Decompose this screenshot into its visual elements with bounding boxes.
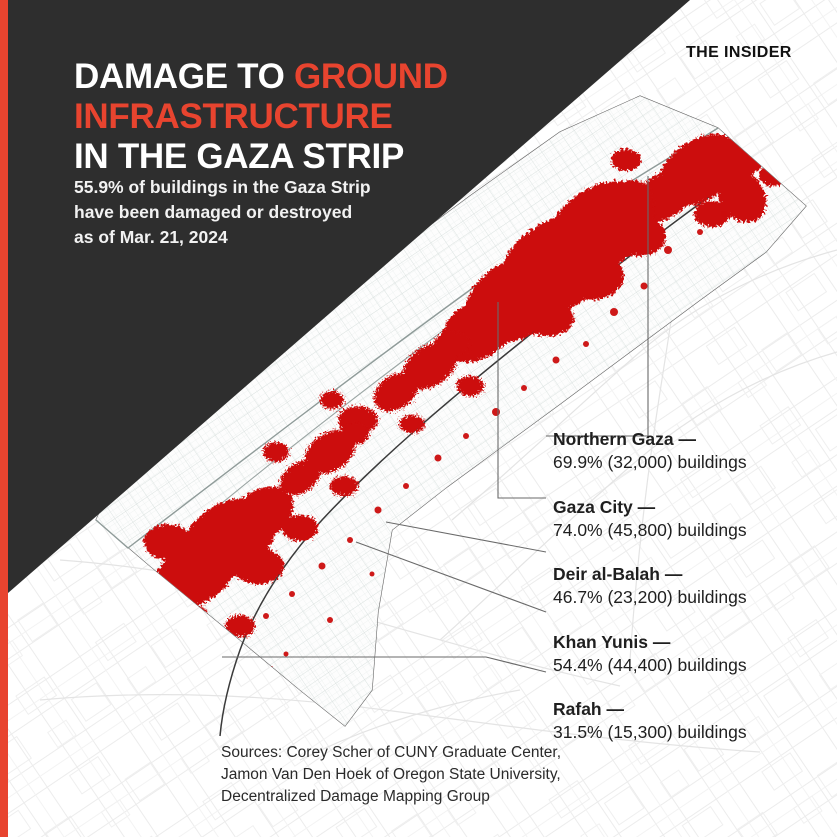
infographic-poster: THE INSIDER DAMAGE TO GROUND INFRASTRUCT…	[0, 0, 837, 837]
sources-line-3: Decentralized Damage Mapping Group	[221, 786, 741, 808]
legend-value-deir-al-balah: 46.7% (23,200) buildings	[553, 586, 823, 609]
subtitle-line-3: as of Mar. 21, 2024	[74, 225, 474, 250]
legend-item-khan-yunis: Khan Yunis — 54.4% (44,400) buildings	[553, 631, 823, 678]
legend-label-rafah: Rafah —	[553, 698, 823, 721]
em-dash: —	[638, 497, 656, 517]
legend-item-rafah: Rafah — 31.5% (15,300) buildings	[553, 698, 823, 745]
region-legend: Northern Gaza — 69.9% (32,000) buildings…	[553, 428, 823, 745]
sources-line-1: Sources: Corey Scher of CUNY Graduate Ce…	[221, 742, 741, 764]
em-dash: —	[678, 429, 696, 449]
subtitle: 55.9% of buildings in the Gaza Strip hav…	[74, 175, 474, 250]
sources-note: Sources: Corey Scher of CUNY Graduate Ce…	[221, 742, 741, 808]
headline-line-1-white: DAMAGE TO	[74, 57, 294, 96]
legend-value-northern-gaza: 69.9% (32,000) buildings	[553, 451, 823, 474]
brand-logo: THE INSIDER	[686, 44, 792, 62]
region-name: Rafah	[553, 699, 602, 719]
legend-value-gaza-city: 74.0% (45,800) buildings	[553, 519, 823, 542]
region-name: Northern Gaza	[553, 429, 674, 449]
legend-label-khan-yunis: Khan Yunis —	[553, 631, 823, 654]
legend-item-deir-al-balah: Deir al-Balah — 46.7% (23,200) buildings	[553, 563, 823, 610]
legend-label-gaza-city: Gaza City —	[553, 496, 823, 519]
headline-line-2-red: INFRASTRUCTURE	[74, 97, 393, 136]
headline-line-3-white: IN THE GAZA STRIP	[74, 137, 404, 176]
legend-value-khan-yunis: 54.4% (44,400) buildings	[553, 654, 823, 677]
region-name: Gaza City	[553, 497, 633, 517]
subtitle-line-2: have been damaged or destroyed	[74, 200, 474, 225]
region-name: Deir al-Balah	[553, 564, 660, 584]
subtitle-line-1: 55.9% of buildings in the Gaza Strip	[74, 175, 474, 200]
sources-line-2: Jamon Van Den Hoek of Oregon State Unive…	[221, 764, 741, 786]
region-name: Khan Yunis	[553, 632, 648, 652]
em-dash: —	[653, 632, 671, 652]
legend-label-northern-gaza: Northern Gaza —	[553, 428, 823, 451]
em-dash: —	[665, 564, 683, 584]
left-accent-stripe	[0, 0, 8, 837]
legend-item-gaza-city: Gaza City — 74.0% (45,800) buildings	[553, 496, 823, 543]
legend-item-northern-gaza: Northern Gaza — 69.9% (32,000) buildings	[553, 428, 823, 475]
page-title: DAMAGE TO GROUND INFRASTRUCTURE IN THE G…	[74, 57, 544, 176]
headline-line-1-red: GROUND	[294, 57, 448, 96]
em-dash: —	[607, 699, 625, 719]
legend-label-deir-al-balah: Deir al-Balah —	[553, 563, 823, 586]
